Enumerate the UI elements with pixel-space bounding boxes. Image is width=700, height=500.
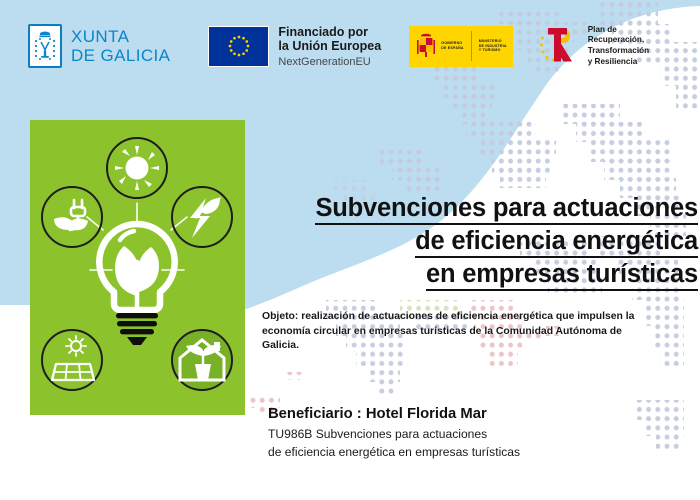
- eco-energy-illustration-panel: [30, 120, 245, 415]
- poster-root: XUNTA DE GALICIA: [0, 0, 700, 500]
- eu-line-2: la Unión Europea: [278, 39, 381, 54]
- house-plant-icon: [172, 330, 232, 390]
- galicia-coat-of-arms-icon: [28, 24, 62, 68]
- tr-line-2: Recuperación,: [588, 35, 649, 46]
- gobierno-line-2: DE ESPAÑA: [441, 46, 464, 51]
- gobierno-yellow-box: GOBIERNO DE ESPAÑA MINISTERIO DE INDUSTR…: [409, 26, 512, 67]
- plan-recuperacion-text: Plan de Recuperación, Transformación y R…: [588, 25, 649, 67]
- eu-stars-icon: [219, 32, 259, 60]
- tr-line-3: Transformación: [588, 46, 649, 57]
- xunta-line-2: DE GALICIA: [71, 46, 170, 65]
- title-line-3-text: en empresas turísticas: [426, 260, 698, 291]
- logo-xunta-de-galicia: XUNTA DE GALICIA: [28, 24, 170, 68]
- eu-line-3: NextGenerationEU: [278, 56, 381, 68]
- title-line-3: en empresas turísticas: [246, 258, 698, 291]
- title-line-2-text: de eficiencia energética: [415, 227, 698, 258]
- tr-monogram-icon: [539, 24, 581, 68]
- ministerio-line-3: Y TURISMO: [479, 48, 507, 53]
- beneficiario-sub-line-2: de eficiencia energética en empresas tur…: [268, 444, 668, 462]
- xunta-line-1: XUNTA: [71, 27, 170, 46]
- eu-logo-text: Financiado por la Unión Europea NextGene…: [278, 25, 381, 68]
- eu-line-1: Financiado por: [278, 25, 381, 40]
- objeto-paragraph: Objeto: realización de actuaciones de ef…: [262, 310, 642, 354]
- title-line-1: Subvenciones para actuaciones: [246, 192, 698, 225]
- page-title: Subvenciones para actuaciones de eficien…: [246, 192, 698, 291]
- logo-plan-recuperacion: Plan de Recuperación, Transformación y R…: [539, 24, 649, 68]
- tr-line-4: y Resiliencia: [588, 57, 649, 68]
- tr-line-1: Plan de: [588, 25, 649, 36]
- beneficiario-sub-line-1: TU986B Subvenciones para actuaciones: [268, 426, 668, 444]
- xunta-logo-text: XUNTA DE GALICIA: [71, 27, 170, 65]
- title-line-1-text: Subvenciones para actuaciones: [315, 194, 698, 225]
- beneficiario-block: Beneficiario : Hotel Florida Mar TU986B …: [268, 404, 668, 461]
- logo-gobierno-de-espana: GOBIERNO DE ESPAÑA MINISTERIO DE INDUSTR…: [409, 26, 512, 67]
- funding-logos-header: XUNTA DE GALICIA: [0, 0, 700, 92]
- gobierno-divider: [471, 31, 472, 61]
- eco-energy-graphic: [30, 120, 245, 415]
- logo-financiado-union-europea: Financiado por la Unión Europea NextGene…: [208, 25, 381, 68]
- title-line-2: de eficiencia energética: [246, 225, 698, 258]
- ministerio-text: MINISTERIO DE INDUSTRIA Y TURISMO: [479, 39, 507, 53]
- galicia-chalice-icon: [32, 28, 58, 64]
- beneficiario-subtitle: TU986B Subvenciones para actuaciones de …: [268, 426, 668, 461]
- eu-flag-icon: [208, 26, 269, 67]
- sun-icon: [107, 138, 167, 198]
- spain-coat-of-arms-icon: [415, 32, 437, 60]
- beneficiario-title: Beneficiario : Hotel Florida Mar: [268, 404, 668, 424]
- gobierno-text: GOBIERNO DE ESPAÑA: [441, 41, 464, 50]
